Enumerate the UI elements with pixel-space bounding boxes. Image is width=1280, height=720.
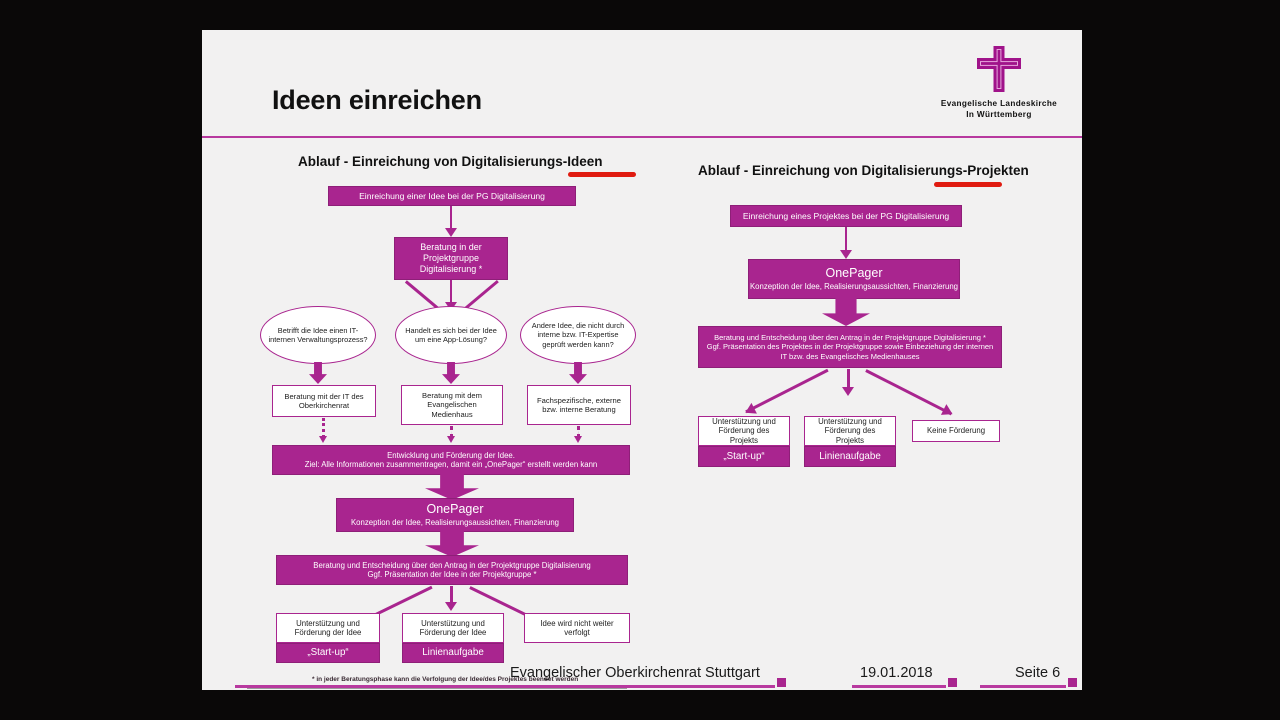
right-outcome-1-tag: „Start-up“ [698, 446, 790, 467]
left-outcome-2: Unterstützung und Förderung der Idee [402, 613, 504, 643]
arrow-down-icon [309, 362, 327, 384]
right-heading-underline-annotation [934, 182, 1002, 187]
arrow-head-icon [842, 387, 854, 396]
footer-page-number: Seite 6 [1015, 665, 1060, 681]
left-outcome-3: Idee wird nicht weiter verfolgt [524, 613, 630, 643]
right-chart-heading: Ablauf - Einreichung von Digitalisierung… [698, 163, 1029, 178]
footer-underline [235, 685, 775, 688]
left-decision-1: Betrifft die Idee einen IT-internen Verw… [260, 306, 376, 364]
arrow-head-icon [319, 436, 327, 443]
connector [865, 369, 952, 415]
footer-underline [852, 685, 946, 688]
title-divider [202, 136, 1082, 138]
left-start-node: Einreichung einer Idee bei der PG Digita… [328, 186, 576, 206]
right-outcome-1: Unterstützung und Förderung des Projekts [698, 416, 790, 446]
left-outcome-1-tag: „Start-up“ [276, 643, 380, 663]
footer-date: 19.01.2018 [860, 665, 933, 681]
presentation-slide: Ideen einreichen Evangelische Landeskirc… [202, 30, 1082, 690]
connector [745, 369, 828, 413]
right-onepager-node: OnePager Konzeption der Idee, Realisieru… [748, 259, 960, 299]
left-advice-2: Beratung mit dem Evangelischen Medienhau… [401, 385, 503, 425]
right-decision-node: Beratung und Entscheidung über den Antra… [698, 326, 1002, 368]
organization-logo: Evangelische Landeskirche In Württemberg [924, 46, 1074, 120]
connector-dotted [322, 418, 325, 438]
left-outcome-1: Unterstützung und Förderung der Idee [276, 613, 380, 643]
left-outcome-2-tag: Linienaufgabe [402, 643, 504, 663]
footer-underline [980, 685, 1066, 688]
arrow-head-icon [447, 436, 455, 443]
right-outcome-3: Keine Förderung [912, 420, 1000, 442]
left-decision-node: Beratung und Entscheidung über den Antra… [276, 555, 628, 585]
arrow-head-icon [445, 602, 457, 611]
footer-marker [948, 678, 957, 687]
footer-marker [777, 678, 786, 687]
arrow-head-icon [840, 250, 852, 259]
right-start-node: Einreichung eines Projektes bei der PG D… [730, 205, 962, 227]
footer-marker [1068, 678, 1077, 687]
left-advice-3: Fachspezifische, externe bzw. interne Be… [527, 385, 631, 425]
connector [450, 206, 452, 230]
arrow-down-icon [569, 362, 587, 384]
right-outcome-2-tag: Linienaufgabe [804, 446, 896, 467]
logo-line-1: Evangelische Landeskirche [924, 98, 1074, 109]
cross-icon [977, 46, 1021, 92]
footer-organization: Evangelischer Oberkirchenrat Stuttgart [510, 665, 760, 681]
left-consult-node: Beratung in der Projektgruppe Digitalisi… [394, 237, 508, 280]
screen: Ideen einreichen Evangelische Landeskirc… [0, 0, 1280, 720]
arrow-head-icon [445, 228, 457, 237]
left-development-node: Entwicklung und Förderung der Idee. Ziel… [272, 445, 630, 475]
left-advice-1: Beratung mit der IT des Oberkirchenrat [272, 385, 376, 417]
left-decision-3: Andere Idee, die nicht durch interne bzw… [520, 306, 636, 364]
arrow-down-icon [425, 531, 479, 557]
left-heading-underline-annotation [568, 172, 636, 177]
footnote-divider [247, 688, 627, 689]
left-chart-heading: Ablauf - Einreichung von Digitalisierung… [298, 154, 603, 169]
arrow-head-icon [574, 436, 582, 443]
left-decision-2: Handelt es sich bei der Idee um eine App… [395, 306, 507, 364]
arrow-down-icon [822, 298, 870, 326]
left-onepager-node: OnePager Konzeption der Idee, Realisieru… [336, 498, 574, 532]
right-outcome-2: Unterstützung und Förderung des Projekts [804, 416, 896, 446]
arrow-down-icon [425, 474, 479, 500]
arrow-down-icon [442, 362, 460, 384]
page-title: Ideen einreichen [272, 85, 482, 116]
logo-line-2: In Württemberg [924, 109, 1074, 120]
